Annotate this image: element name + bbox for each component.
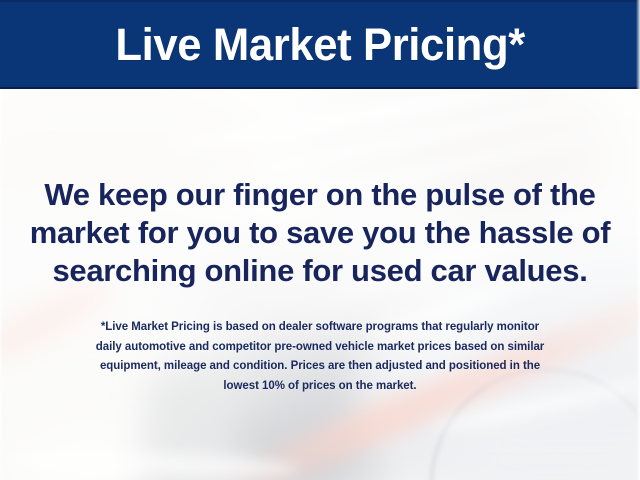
- disclaimer-line-4: lowest 10% of prices on the market.: [18, 377, 622, 397]
- disclaimer-text: *Live Market Pricing is based on dealer …: [18, 318, 622, 396]
- header-banner: Live Market Pricing*: [0, 0, 640, 89]
- headline-line-3: searching online for used car values.: [0, 252, 640, 290]
- page-title: Live Market Pricing*: [115, 22, 525, 67]
- disclaimer-line-3: equipment, mileage and condition. Prices…: [18, 357, 622, 377]
- headline-text: We keep our finger on the pulse of the m…: [0, 176, 640, 290]
- headline-line-1: We keep our finger on the pulse of the: [0, 176, 640, 214]
- right-edge-highlight: [636, 0, 640, 480]
- disclaimer-line-2: daily automotive and competitor pre-owne…: [18, 338, 622, 358]
- left-edge-highlight: [0, 89, 3, 480]
- disclaimer-line-1: *Live Market Pricing is based on dealer …: [18, 318, 622, 338]
- live-market-pricing-slide: Live Market Pricing* We keep our finger …: [0, 0, 640, 480]
- headline-line-2: market for you to save you the hassle of: [0, 214, 640, 252]
